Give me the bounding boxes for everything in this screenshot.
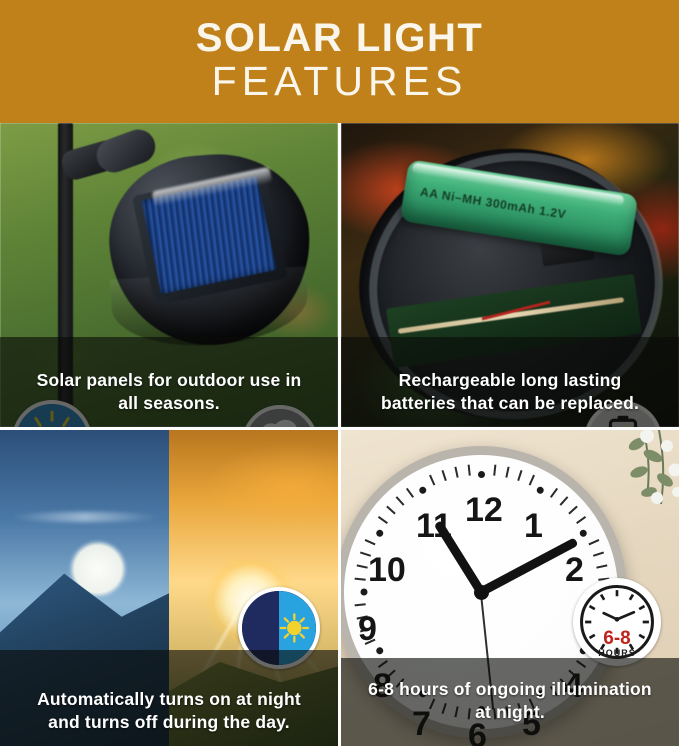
hours-clock-badge: 6-8 HOURS bbox=[573, 578, 661, 666]
clock-minute-tick bbox=[378, 516, 388, 524]
clock-numeral-9: 9 bbox=[358, 610, 377, 649]
clock-hour-dot bbox=[478, 471, 485, 478]
clock-minute-tick bbox=[560, 496, 569, 506]
feature-grid: Solar panels for outdoor use in all seas… bbox=[0, 123, 679, 746]
panel-caption-batteries: Rechargeable long lasting batteries that… bbox=[341, 369, 679, 427]
hours-badge-text-group: 6-8 HOURS bbox=[578, 629, 656, 658]
clock-center-cap bbox=[474, 585, 489, 600]
clock-minute-tick bbox=[588, 539, 599, 545]
clock-minute-tick bbox=[468, 465, 471, 476]
clock-minute-tick bbox=[357, 564, 368, 568]
clock-minute-tick bbox=[505, 467, 509, 478]
feature-panel-runtime-hours: 12 1 2 3 4 5 6 7 8 9 10 11 bbox=[341, 430, 679, 746]
clock-minute-tick bbox=[386, 506, 396, 515]
clock-hour-dot bbox=[535, 485, 545, 495]
clock-minute-tick bbox=[355, 578, 366, 581]
panel-caption-solar-panels: Solar panels for outdoor use in all seas… bbox=[0, 369, 338, 427]
clock-numeral-10: 10 bbox=[368, 551, 406, 590]
infographic-root: SOLAR LIGHT FEATURES bbox=[0, 0, 679, 746]
clock-minute-tick bbox=[493, 465, 496, 476]
clock-minute-tick bbox=[454, 467, 458, 478]
page-title-secondary: FEATURES bbox=[212, 58, 468, 104]
clock-minute-tick bbox=[596, 564, 607, 568]
feature-panel-solar-panels: Solar panels for outdoor use in all seas… bbox=[0, 123, 338, 427]
panel-caption-day-night: Automatically turns on at night and turn… bbox=[0, 688, 338, 746]
clock-minute-hand bbox=[475, 537, 578, 598]
clock-minute-tick bbox=[365, 539, 376, 545]
feature-panel-day-night: Automatically turns on at night and turn… bbox=[0, 430, 338, 746]
feature-panel-rechargeable-batteries: AA Ni–MH 300mAh 1.2V Rechargeable long l… bbox=[341, 123, 679, 427]
clock-minute-tick bbox=[550, 488, 558, 498]
clock-hour-dot bbox=[578, 528, 588, 538]
clock-minute-tick bbox=[429, 475, 435, 486]
clock-minute-tick bbox=[576, 516, 586, 524]
clock-numeral-2: 2 bbox=[565, 551, 584, 590]
clock-minute-tick bbox=[517, 470, 522, 481]
clock-minute-tick bbox=[355, 603, 366, 606]
night-cloud bbox=[10, 512, 159, 522]
clock-minute-tick bbox=[568, 506, 578, 515]
hours-badge-unit: HOURS bbox=[578, 649, 656, 658]
clock-hour-dot bbox=[360, 589, 367, 596]
clock-numeral-12: 12 bbox=[465, 491, 503, 530]
hours-badge-value: 6-8 bbox=[578, 629, 656, 648]
panel-caption-runtime: 6-8 hours of ongoing illumination at nig… bbox=[341, 678, 679, 746]
clock-minute-tick bbox=[441, 470, 446, 481]
clock-hour-dot bbox=[374, 528, 384, 538]
clock-minute-tick bbox=[529, 475, 535, 486]
page-title-primary: SOLAR LIGHT bbox=[196, 16, 484, 60]
clock-hour-dot bbox=[417, 485, 427, 495]
clock-minute-tick bbox=[396, 496, 405, 506]
clock-minute-tick bbox=[406, 488, 414, 498]
clock-minute-tick bbox=[593, 551, 604, 556]
header-banner: SOLAR LIGHT FEATURES bbox=[0, 0, 679, 123]
clock-numeral-1: 1 bbox=[524, 507, 543, 546]
